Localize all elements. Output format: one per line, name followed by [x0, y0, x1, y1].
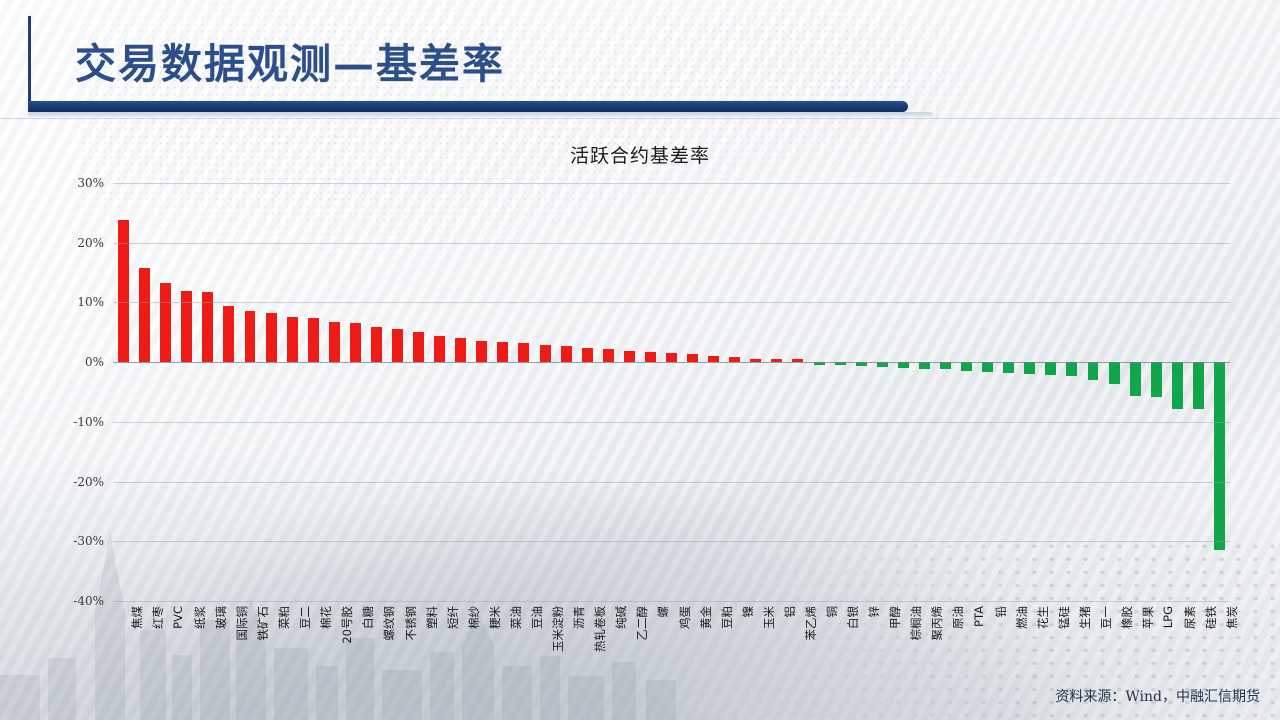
x-axis-tick-label: 黄金: [698, 606, 714, 629]
bar: [940, 362, 951, 369]
bar-series: [113, 183, 1230, 601]
x-axis-tick-label: 镍: [740, 606, 756, 618]
bar: [329, 322, 340, 363]
bar: [1172, 362, 1183, 409]
bar: [603, 349, 614, 362]
bar: [497, 342, 508, 362]
bar: [413, 332, 424, 362]
x-axis-tick-label: 聚丙烯: [929, 606, 945, 641]
header-bar: [28, 101, 908, 112]
x-axis-tick-label: 锰硅: [1056, 606, 1072, 629]
bar: [1066, 362, 1077, 376]
x-axis-tick-label: 热轧卷板: [592, 606, 608, 652]
x-axis-tick-label: 苹果: [1140, 606, 1156, 629]
y-axis-tick-label: -10%: [73, 415, 104, 429]
x-axis-tick-label: 玉米: [761, 606, 777, 629]
bar: [350, 323, 361, 362]
bar: [1130, 362, 1141, 395]
x-axis-tick-label: 苯乙烯: [803, 606, 819, 641]
x-axis-tick-label: 纸浆: [192, 606, 208, 629]
gridline: [113, 183, 1230, 184]
x-axis-tick-label: 豆油: [529, 606, 545, 629]
bar: [245, 311, 256, 362]
x-axis-tick-label: 棉纱: [466, 606, 482, 629]
bar: [582, 348, 593, 362]
x-axis-tick-label: 螺纹钢: [381, 606, 397, 641]
bar: [645, 352, 656, 362]
x-axis-tick-label: 铅: [993, 606, 1009, 618]
bar: [160, 283, 171, 362]
bar: [1109, 362, 1120, 383]
header-bar-shadow: [28, 112, 933, 117]
x-axis-tick-label: 短纤: [445, 606, 461, 629]
x-axis-tick-label: 20号胶: [339, 606, 355, 644]
x-axis-tick-label: 玉米淀粉: [550, 606, 566, 652]
x-axis-tick-label: 铜: [824, 606, 840, 618]
bar: [266, 313, 277, 362]
x-axis-tick-label: 白银: [845, 606, 861, 629]
x-axis-tick-label: 棕榈油: [908, 606, 924, 641]
bar: [371, 327, 382, 362]
x-axis-tick-label: 沥青: [571, 606, 587, 629]
x-axis-tick-label: PVC: [171, 606, 185, 629]
chart-title: 活跃合约基差率: [0, 141, 1280, 168]
x-axis-tick-label: 尿素: [1182, 606, 1198, 629]
bar: [139, 268, 150, 362]
bar: [308, 318, 319, 362]
x-axis-tick-label: 甲醇: [887, 606, 903, 629]
bar: [1003, 362, 1014, 373]
chart-plot-area: [113, 183, 1230, 601]
gridline: [113, 601, 1230, 602]
gridline: [113, 482, 1230, 483]
bar: [1214, 362, 1225, 550]
x-axis-tick-label: 硅铁: [1203, 606, 1219, 629]
x-axis-tick-label: 花生: [1035, 606, 1051, 629]
bar: [476, 341, 487, 362]
bar: [1045, 362, 1056, 375]
x-axis-tick-label: 菜油: [508, 606, 524, 629]
x-axis-tick-label: 橡胶: [1119, 606, 1135, 629]
x-axis-tick-label: 鸡蛋: [677, 606, 693, 629]
y-axis-tick-label: 0%: [85, 355, 104, 369]
x-axis-tick-label: 生猪: [1077, 606, 1093, 629]
bar: [540, 345, 551, 362]
x-axis-tick-label: 菜粕: [276, 606, 292, 629]
bar: [392, 329, 403, 362]
x-axis-tick-label: 豆粕: [719, 606, 735, 629]
bar: [223, 306, 234, 362]
bar: [287, 317, 298, 362]
x-axis-tick-label: 燃油: [1014, 606, 1030, 629]
bar: [1024, 362, 1035, 374]
bar: [624, 351, 635, 362]
y-axis-tick-label: 20%: [77, 236, 104, 250]
bar: [687, 354, 698, 362]
y-axis-tick-label: -20%: [73, 475, 104, 489]
gridline: [113, 422, 1230, 423]
x-axis-tick-label: 白糖: [360, 606, 376, 629]
bar: [708, 356, 719, 363]
x-axis-tick-label: 豆一: [1098, 606, 1114, 629]
page-title: 交易数据观测—基差率: [75, 30, 505, 90]
bar: [666, 353, 677, 362]
bar: [455, 338, 466, 362]
x-axis-tick-label: 塑料: [424, 606, 440, 629]
x-axis-tick-label: 锌: [866, 606, 882, 618]
y-axis-tick-label: -40%: [73, 594, 104, 608]
x-axis-tick-label: 粳米: [487, 606, 503, 629]
bar: [1193, 362, 1204, 409]
header-divider: [0, 118, 1280, 119]
x-axis-tick-label: 国际铜: [234, 606, 250, 641]
bar: [434, 336, 445, 362]
x-axis-tick-label: 焦炭: [1224, 606, 1240, 629]
bar: [518, 343, 529, 362]
x-axis-tick-label: 焦煤: [129, 606, 145, 629]
x-axis-tick-label: 原油: [950, 606, 966, 629]
bar: [1088, 362, 1099, 380]
gridline: [113, 243, 1230, 244]
x-axis-tick-label: 玻璃: [213, 606, 229, 629]
bar: [982, 362, 993, 372]
zero-axis-line: [113, 362, 1230, 363]
gridline: [113, 541, 1230, 542]
y-axis-tick-label: 30%: [77, 176, 104, 190]
x-axis-tick-label: LPG: [1161, 606, 1175, 628]
y-axis-labels: 30%20%10%0%-10%-20%-30%-40%: [0, 183, 105, 601]
x-axis-tick-label: 棉花: [318, 606, 334, 629]
x-axis-tick-label: 铝: [782, 606, 798, 618]
x-axis-tick-label: 豆二: [297, 606, 313, 629]
y-axis-tick-label: -30%: [73, 534, 104, 548]
source-note: 资料来源：Wind，中融汇信期货: [1055, 686, 1260, 706]
x-axis-tick-label: 铁矿石: [255, 606, 271, 641]
y-axis-tick-label: 10%: [77, 295, 104, 309]
x-axis-tick-label: 纯碱: [613, 606, 629, 629]
gridline: [113, 302, 1230, 303]
bar: [961, 362, 972, 370]
bar: [118, 220, 129, 362]
header-accent-rule: [28, 16, 31, 108]
x-axis-tick-label: 不锈钢: [403, 606, 419, 641]
x-axis-tick-label: 乙二醇: [634, 606, 650, 641]
x-axis-tick-label: 螺: [655, 606, 671, 618]
bar: [1151, 362, 1162, 397]
x-axis-tick-label: 红枣: [150, 606, 166, 629]
x-axis-tick-label: PTA: [972, 606, 986, 627]
bar: [561, 346, 572, 362]
